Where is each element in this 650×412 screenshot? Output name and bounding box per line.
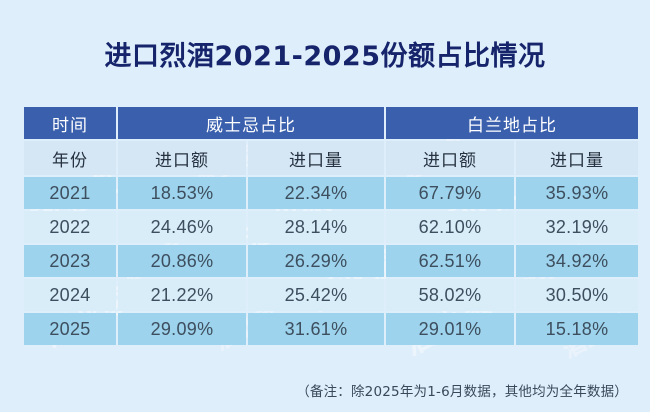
table-row: 2023 20.86% 26.29% 62.51% 34.92% xyxy=(24,245,638,277)
cell-year: 2021 xyxy=(24,177,116,209)
cell-year: 2022 xyxy=(24,211,116,243)
cell-brandy-value: 58.02% xyxy=(386,279,514,311)
table-row: 2022 24.46% 28.14% 62.10% 32.19% xyxy=(24,211,638,243)
cell-whisky-value: 18.53% xyxy=(118,177,246,209)
table-group-header-row: 时间 威士忌占比 白兰地占比 xyxy=(24,107,638,139)
cell-whisky-volume: 22.34% xyxy=(248,177,384,209)
sub-header-year: 年份 xyxy=(24,141,116,175)
cell-brandy-volume: 15.18% xyxy=(516,313,638,345)
cell-year: 2025 xyxy=(24,313,116,345)
table-sub-header-row: 年份 进口额 进口量 进口额 进口量 xyxy=(24,141,638,175)
spirits-share-table: 时间 威士忌占比 白兰地占比 年份 进口额 进口量 进口额 进口量 2021 1… xyxy=(22,105,640,347)
cell-brandy-value: 29.01% xyxy=(386,313,514,345)
table-row: 2024 21.22% 25.42% 58.02% 30.50% xyxy=(24,279,638,311)
cell-whisky-volume: 26.29% xyxy=(248,245,384,277)
cell-whisky-volume: 31.61% xyxy=(248,313,384,345)
group-header-brandy: 白兰地占比 xyxy=(386,107,638,139)
cell-brandy-volume: 30.50% xyxy=(516,279,638,311)
group-header-whisky: 威士忌占比 xyxy=(118,107,384,139)
group-header-time: 时间 xyxy=(24,107,116,139)
cell-whisky-value: 24.46% xyxy=(118,211,246,243)
cell-whisky-volume: 25.42% xyxy=(248,279,384,311)
cell-brandy-volume: 32.19% xyxy=(516,211,638,243)
cell-year: 2024 xyxy=(24,279,116,311)
cell-year: 2023 xyxy=(24,245,116,277)
cell-whisky-value: 29.09% xyxy=(118,313,246,345)
sub-header-whisky-value: 进口额 xyxy=(118,141,246,175)
cell-brandy-value: 62.10% xyxy=(386,211,514,243)
page-title: 进口烈酒2021-2025份额占比情况 xyxy=(0,34,650,73)
sub-header-brandy-volume: 进口量 xyxy=(516,141,638,175)
sub-header-whisky-volume: 进口量 xyxy=(248,141,384,175)
table-row: 2021 18.53% 22.34% 67.79% 35.93% xyxy=(24,177,638,209)
cell-brandy-volume: 35.93% xyxy=(516,177,638,209)
cell-whisky-value: 20.86% xyxy=(118,245,246,277)
cell-whisky-volume: 28.14% xyxy=(248,211,384,243)
cell-brandy-value: 67.79% xyxy=(386,177,514,209)
sub-header-brandy-value: 进口额 xyxy=(386,141,514,175)
cell-brandy-value: 62.51% xyxy=(386,245,514,277)
table-row: 2025 29.09% 31.61% 29.01% 15.18% xyxy=(24,313,638,345)
cell-whisky-value: 21.22% xyxy=(118,279,246,311)
table-footnote: （备注：除2025年为1-6月数据，其他均为全年数据） xyxy=(0,380,650,400)
cell-brandy-volume: 34.92% xyxy=(516,245,638,277)
